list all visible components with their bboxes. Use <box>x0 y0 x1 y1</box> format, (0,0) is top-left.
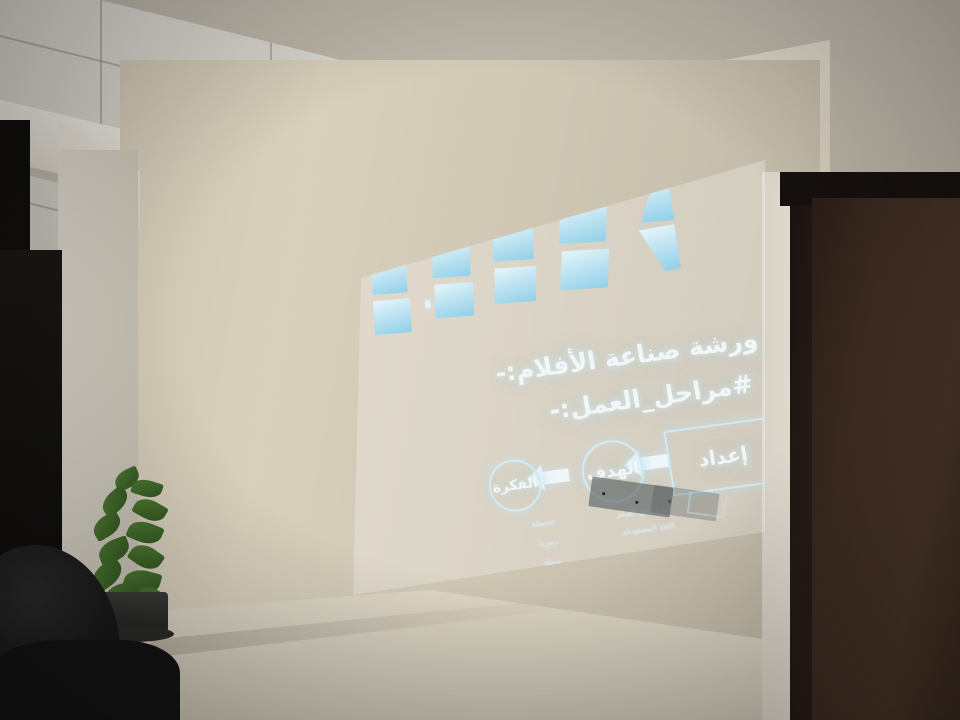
sub-hadaf-1: الفئة المستهدفة <box>621 521 675 537</box>
node-fikra-label: الفكرة <box>491 475 538 497</box>
wooden-door[interactable] <box>812 198 960 720</box>
sub-fikra-1: رمزية <box>538 536 558 547</box>
sub-fikra-0: بسيطة <box>531 517 555 529</box>
photo-scene: ورشة صناعة الأفلام:- #مراحل_العمل:- إعدا… <box>0 0 960 720</box>
slide-title-line-2: #مراحل_العمل:- <box>547 369 755 425</box>
node-edad-label: إعداد <box>697 441 750 471</box>
node-edad: إعداد <box>663 417 783 497</box>
foreground-person-body <box>0 640 180 720</box>
